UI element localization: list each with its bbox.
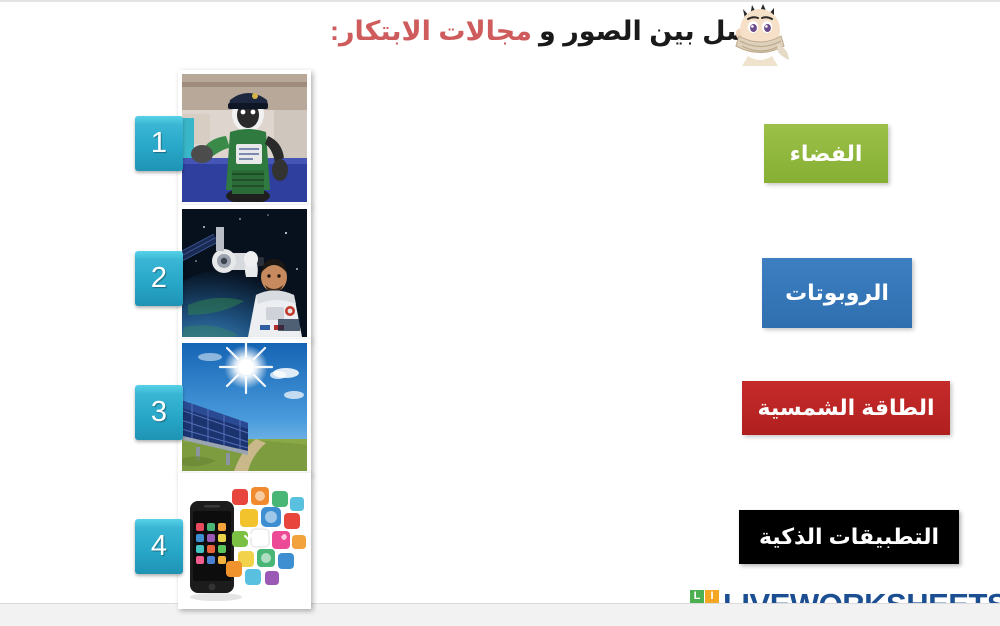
item-row-2: 2 xyxy=(135,205,320,345)
solar-panel-field-image xyxy=(182,343,307,471)
logo-tile-l: L xyxy=(690,590,704,604)
item-row-1: 1 xyxy=(135,70,320,210)
number-tab-3-label: 3 xyxy=(151,398,167,427)
bottom-band xyxy=(0,603,1000,626)
photo-frame-2[interactable] xyxy=(178,205,311,341)
answer-label-solar-energy-text: الطاقة الشمسية xyxy=(758,397,935,419)
item-row-4: 4 xyxy=(135,473,320,613)
robot-police-officer-image xyxy=(182,74,307,202)
top-divider xyxy=(0,0,1000,2)
number-tab-4-label: 4 xyxy=(151,532,167,561)
number-tab-4[interactable]: 4 xyxy=(135,519,183,574)
photo-frame-3[interactable] xyxy=(178,339,311,475)
answer-label-robotics[interactable]: الروبوتات xyxy=(762,258,912,328)
number-tab-1[interactable]: 1 xyxy=(135,116,183,171)
number-tab-3[interactable]: 3 xyxy=(135,385,183,440)
smartphone-apps-image xyxy=(182,477,307,605)
photo-frame-4[interactable] xyxy=(178,473,311,609)
answer-label-space-text: الفضاء xyxy=(790,143,863,165)
answer-label-robotics-text: الروبوتات xyxy=(785,282,889,304)
page-title-highlight: مجالات الابتكار: xyxy=(330,17,532,47)
number-tab-2-label: 2 xyxy=(151,264,167,293)
cartoon-boy-mascot-icon xyxy=(716,0,802,66)
astronaut-in-space-image xyxy=(182,209,307,337)
worksheet-page: أصل بين الصور و مجالات الابتكار: xyxy=(0,0,1000,626)
answer-label-smart-applications[interactable]: التطبيقات الذكية xyxy=(739,510,959,564)
item-row-3: 3 xyxy=(135,339,320,479)
page-title: أصل بين الصور و مجالات الابتكار: xyxy=(330,8,730,56)
number-tab-2[interactable]: 2 xyxy=(135,251,183,306)
logo-tile-i: I xyxy=(705,590,719,604)
photo-frame-1[interactable] xyxy=(178,70,311,206)
number-tab-1-label: 1 xyxy=(151,129,167,158)
answer-label-space[interactable]: الفضاء xyxy=(764,124,888,183)
answer-label-smart-applications-text: التطبيقات الذكية xyxy=(759,526,939,548)
answer-label-solar-energy[interactable]: الطاقة الشمسية xyxy=(742,381,950,435)
